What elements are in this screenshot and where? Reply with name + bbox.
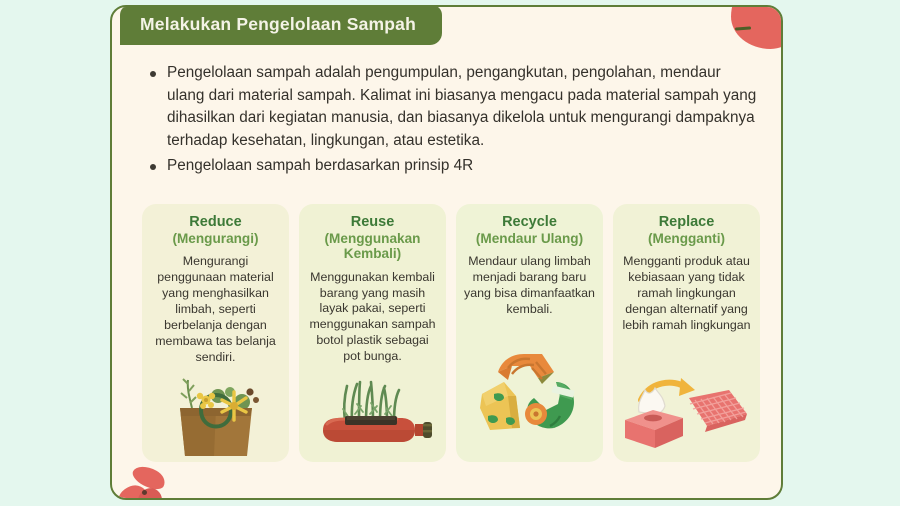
card-reduce: Reduce (Mengurangi) Mengurangi penggunaa… xyxy=(142,204,289,462)
slide-card: Melakukan Pengelolaan Sampah Pengelolaan… xyxy=(110,5,783,500)
salmon-petal-bottom-left-decoration xyxy=(116,466,174,500)
bullet-dot-icon xyxy=(150,71,156,77)
salmon-blob-top-right-decoration xyxy=(731,5,783,49)
slide-stage: Melakukan Pengelolaan Sampah Pengelolaan… xyxy=(0,0,900,506)
bullet-list: Pengelolaan sampah adalah pengumpulan, p… xyxy=(150,62,760,179)
bullet-text: Pengelolaan sampah berdasarkan prinsip 4… xyxy=(167,155,760,178)
card-reduce-title: Reduce xyxy=(148,214,283,230)
page-title: Melakukan Pengelolaan Sampah xyxy=(140,14,416,35)
card-replace: Replace (Mengganti) Mengganti produk ata… xyxy=(613,204,760,462)
card-replace-body: Mengganti produk atau kebiasaan yang tid… xyxy=(619,254,754,333)
shopping-bag-with-flowers-icon xyxy=(142,362,289,458)
tissue-box-to-cloth-icon xyxy=(613,362,760,454)
card-reuse: Reuse (Menggunakan Kembali) Menggunakan … xyxy=(299,204,446,462)
list-item: Pengelolaan sampah adalah pengumpulan, p… xyxy=(150,62,760,153)
card-reuse-title: Reuse xyxy=(305,214,440,230)
slide-title-bar: Melakukan Pengelolaan Sampah xyxy=(120,5,442,45)
card-reduce-body: Mengurangi penggunaan material yang meng… xyxy=(148,254,283,365)
card-replace-subtitle: (Mengganti) xyxy=(619,231,754,246)
card-recycle-subtitle: (Mendaur Ulang) xyxy=(462,231,597,246)
card-recycle: Recycle (Mendaur Ulang) Mendaur ulang li… xyxy=(456,204,603,462)
card-replace-title: Replace xyxy=(619,214,754,230)
four-r-card-row: Reduce (Mengurangi) Mengurangi penggunaa… xyxy=(142,204,760,462)
plastic-bottle-planter-icon xyxy=(299,360,446,456)
petal-dot xyxy=(142,490,147,495)
recycle-arrows-icon xyxy=(456,332,603,456)
list-item: Pengelolaan sampah berdasarkan prinsip 4… xyxy=(150,155,760,178)
card-reuse-subtitle: (Menggunakan Kembali) xyxy=(305,231,440,261)
bullet-text: Pengelolaan sampah adalah pengumpulan, p… xyxy=(167,62,760,153)
card-recycle-body: Mendaur ulang limbah menjadi barang baru… xyxy=(462,254,597,318)
card-recycle-title: Recycle xyxy=(462,214,597,230)
card-reuse-body: Menggunakan kembali barang yang masih la… xyxy=(305,270,440,365)
card-reduce-subtitle: (Mengurangi) xyxy=(148,231,283,246)
bullet-dot-icon xyxy=(150,164,156,170)
